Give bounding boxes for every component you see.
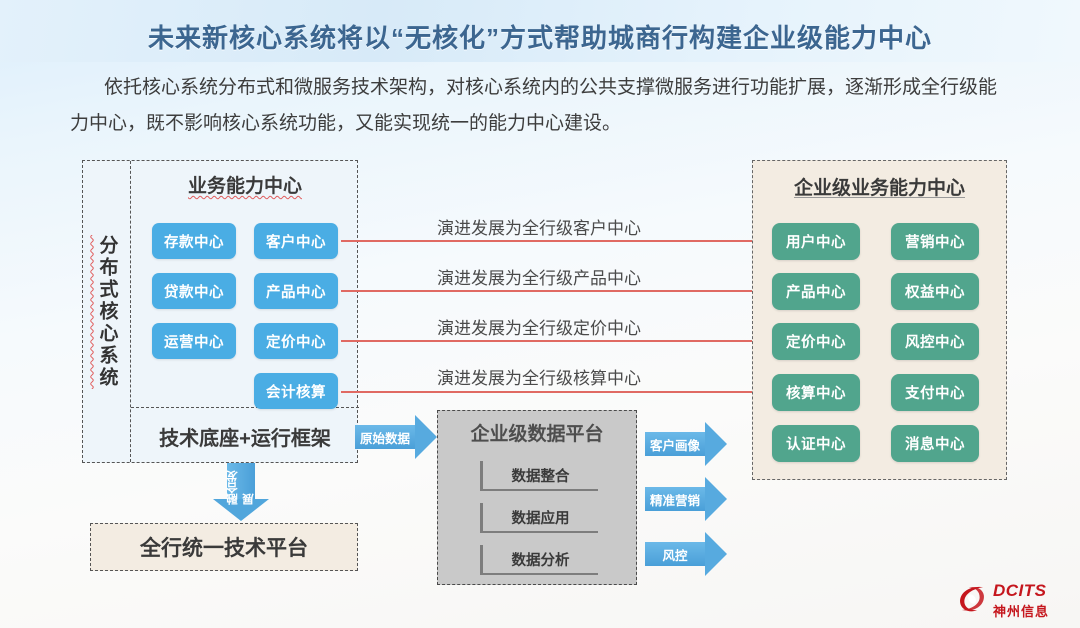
- connector-label-pricing: 演进发展为全行级定价中心: [437, 314, 641, 339]
- distributed-core-system-panel: 分布式核心系统 业务能力中心 存款中心 贷款中心 运营中心 客户中心 产品中心 …: [82, 160, 358, 463]
- core-box-accounting[interactable]: 会计核算: [254, 373, 338, 409]
- page-title: 未来新核心系统将以“无核化”方式帮助城商行构建企业级能力中心: [0, 18, 1080, 55]
- connector-arrow-customer: [341, 240, 762, 242]
- connector-label-product: 演进发展为全行级产品中心: [437, 264, 641, 289]
- ent-box-payment[interactable]: 支付中心: [891, 374, 979, 411]
- business-capability-center-panel: 业务能力中心 存款中心 贷款中心 运营中心 客户中心 产品中心 定价中心 会计核…: [131, 161, 359, 408]
- dcits-swirl-icon: [955, 582, 989, 616]
- connector-label-customer: 演进发展为全行级客户中心: [437, 214, 641, 239]
- output-arrow-risk-control-label: 风控: [645, 542, 705, 566]
- integration-development-arrow: 融合发展: [205, 463, 277, 523]
- logo-text-cn: 神州信息: [993, 601, 1049, 620]
- enterprise-center-title: 企业级业务能力中心: [753, 173, 1006, 200]
- ent-box-marketing[interactable]: 营销中心: [891, 223, 979, 260]
- business-capability-center-title: 业务能力中心: [131, 171, 359, 198]
- enterprise-business-capability-center-panel: 企业级业务能力中心 用户中心 产品中心 定价中心 核算中心 认证中心 营销中心 …: [752, 160, 1007, 480]
- core-box-deposit[interactable]: 存款中心: [152, 223, 236, 259]
- enterprise-data-platform-title: 企业级数据平台: [438, 419, 636, 446]
- ent-box-auth[interactable]: 认证中心: [772, 425, 860, 462]
- output-arrow-customer-profile-head: [705, 422, 727, 466]
- unified-tech-platform: 全行统一技术平台: [90, 523, 358, 571]
- core-box-product[interactable]: 产品中心: [254, 273, 338, 309]
- output-arrow-risk-control: 风控: [645, 532, 727, 576]
- raw-data-arrow: 原始数据: [355, 415, 437, 459]
- distributed-core-system-label: 分布式核心系统: [97, 235, 117, 389]
- integration-arrow-label: 融合发展: [227, 465, 255, 505]
- dp-item-integration[interactable]: 数据整合: [480, 461, 598, 491]
- ent-box-message[interactable]: 消息中心: [891, 425, 979, 462]
- tech-base-label: 技术底座+运行框架: [131, 408, 359, 464]
- connector-arrow-pricing: [341, 340, 762, 342]
- connector-label-accounting: 演进发展为全行级核算中心: [437, 364, 641, 389]
- raw-data-arrow-label: 原始数据: [355, 425, 415, 449]
- ent-box-accounting[interactable]: 核算中心: [772, 374, 860, 411]
- output-arrow-precision-marketing: 精准营销: [645, 477, 727, 521]
- enterprise-data-platform-panel: 企业级数据平台 数据整合 数据应用 数据分析: [437, 410, 637, 585]
- dp-item-application[interactable]: 数据应用: [480, 503, 598, 533]
- connector-arrow-product: [341, 290, 762, 292]
- raw-data-arrow-head: [415, 415, 437, 459]
- company-logo: DCITS 神州信息: [955, 580, 1075, 624]
- core-box-pricing[interactable]: 定价中心: [254, 323, 338, 359]
- output-arrow-customer-profile-label: 客户画像: [645, 432, 705, 456]
- distributed-core-system-label-column: 分布式核心系统: [83, 161, 131, 462]
- logo-text-en: DCITS: [993, 581, 1047, 601]
- page-subtitle: 依托核心系统分布式和微服务技术架构，对核心系统内的公共支撑微服务进行功能扩展，逐…: [70, 70, 1015, 142]
- core-box-customer[interactable]: 客户中心: [254, 223, 338, 259]
- connector-arrow-accounting: [341, 391, 762, 393]
- ent-box-risk[interactable]: 风控中心: [891, 323, 979, 360]
- ent-box-pricing[interactable]: 定价中心: [772, 323, 860, 360]
- ent-box-rights[interactable]: 权益中心: [891, 273, 979, 310]
- dp-item-analysis[interactable]: 数据分析: [480, 545, 598, 575]
- core-box-operation[interactable]: 运营中心: [152, 323, 236, 359]
- ent-box-user[interactable]: 用户中心: [772, 223, 860, 260]
- output-arrow-precision-marketing-label: 精准营销: [645, 487, 705, 511]
- output-arrow-precision-marketing-head: [705, 477, 727, 521]
- output-arrow-customer-profile: 客户画像: [645, 422, 727, 466]
- ent-box-product[interactable]: 产品中心: [772, 273, 860, 310]
- core-box-loan[interactable]: 贷款中心: [152, 273, 236, 309]
- output-arrow-risk-control-head: [705, 532, 727, 576]
